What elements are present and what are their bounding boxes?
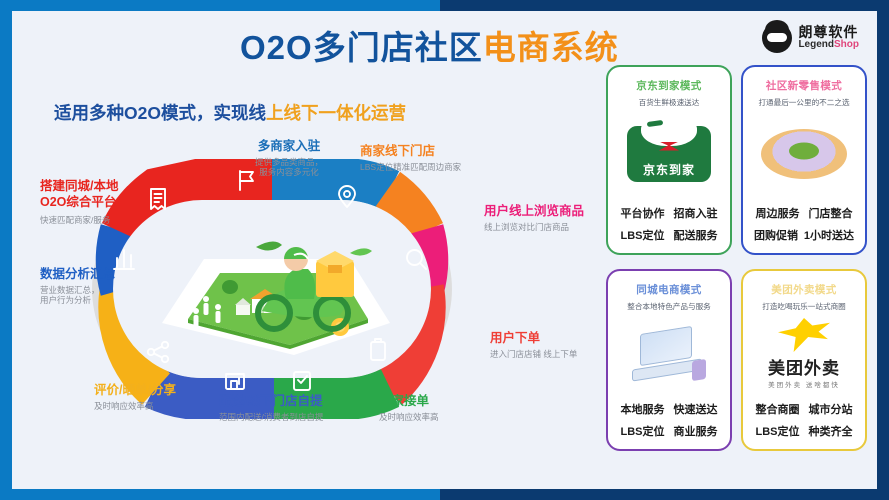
brand-logo-text: 朗尊软件 LegendShop bbox=[798, 25, 859, 50]
cycle-label-review-share: 评价/晒单/分享 及时响应效率高 bbox=[94, 383, 176, 411]
card-tags-row-1: 本地服务 快速送达 bbox=[616, 401, 722, 417]
cycle-label-sub1: 进入门店店铺 线上下单 bbox=[490, 349, 577, 360]
page-title-primary: O2O多门店社区 bbox=[240, 29, 483, 66]
ring-seg-merchant-onboarding[interactable] bbox=[272, 179, 390, 190]
content-canvas: O2O多门店社区电商系统 朗尊软件 LegendShop 适用多种O2O模式，实… bbox=[12, 11, 877, 489]
card-tag: 快速送达 bbox=[674, 401, 718, 417]
cycle-label-sub1: LBS定位精准匹配周边商家 bbox=[360, 162, 461, 173]
meituan-brand-text: 美团外卖 bbox=[768, 354, 840, 379]
card-tag: 1小时送达 bbox=[804, 227, 854, 243]
cycle-label-sub1: 范围内配送/消费者到店自提 bbox=[219, 412, 323, 423]
laptop-screen bbox=[640, 325, 692, 365]
brand-name-cn: 朗尊软件 bbox=[798, 25, 859, 40]
cycle-label-title: 评价/晒单/分享 bbox=[94, 383, 176, 399]
cycle-label-sub1: 营业数据汇总， bbox=[40, 285, 115, 296]
card-community-new-retail[interactable]: 社区新零售模式 打通最后一公里的不二之选 周边服务 门店整合 团购促销 1小时送… bbox=[741, 65, 867, 255]
page-title: O2O多门店社区电商系统 bbox=[240, 21, 619, 69]
card-tag: 招商入驻 bbox=[674, 205, 718, 221]
cycle-label-title: 数据分析汇总 bbox=[40, 267, 115, 283]
card-tag: 种类齐全 bbox=[809, 423, 853, 439]
cycle-label-data-analysis: 数据分析汇总 营业数据汇总， 用户行为分析 bbox=[40, 267, 115, 306]
cycle-label-online-browse: 用户线上浏览商品 线上浏览对比门店商品 bbox=[484, 204, 584, 232]
laptop-art bbox=[608, 312, 730, 395]
concentric-disc-icon bbox=[761, 129, 847, 179]
card-subtitle: 打造吃喝玩乐一站式商圈 bbox=[762, 301, 846, 312]
card-tag: 整合商圈 bbox=[756, 401, 800, 417]
card-title: 美团外卖模式 bbox=[771, 282, 836, 297]
cycle-label-title: 用户线上浏览商品 bbox=[484, 204, 584, 220]
page-subtitle-primary: 适用多种O2O模式，实现线 bbox=[54, 103, 266, 123]
cycle-label-build-platform: 搭建同城/本地 O2O综合平台 快速匹配商家/服务 bbox=[40, 179, 118, 226]
card-tag: 周边服务 bbox=[756, 205, 800, 221]
panda-mascot-icon bbox=[762, 23, 792, 53]
jd-badge: 京东到家 bbox=[627, 126, 711, 182]
card-local-ecommerce[interactable]: 同城电商模式 整合本地特色产品与服务 本地服务 快速送达 LBS定位 商业服务 bbox=[606, 269, 732, 451]
cycle-label-place-order: 用户下单 进入门店店铺 线上下单 bbox=[490, 331, 577, 359]
community-disc-art bbox=[743, 108, 865, 199]
cycle-label-sub1: 提供多品类商品， bbox=[234, 157, 344, 168]
cycle-label-title-line1: 搭建同城/本地 bbox=[40, 179, 118, 195]
card-tag: 配送服务 bbox=[674, 227, 718, 243]
card-tag: 商业服务 bbox=[674, 423, 718, 439]
cycle-label-title: 商家线下门店 bbox=[360, 144, 461, 160]
card-footer: 平台协作 招商入驻 LBS定位 配送服务 bbox=[608, 199, 730, 253]
meituan-logo-art: 美团外卖 美团外卖 送啥都快 bbox=[743, 312, 865, 395]
card-tags-row-2: 团购促销 1小时送达 bbox=[751, 227, 857, 243]
brand-name-en-legend: Legend bbox=[798, 39, 834, 50]
card-subtitle: 打通最后一公里的不二之选 bbox=[758, 97, 849, 108]
card-tag: LBS定位 bbox=[621, 423, 665, 439]
card-title: 京东到家模式 bbox=[636, 78, 701, 93]
phone-icon bbox=[692, 358, 706, 380]
cycle-label-title: 用户下单 bbox=[490, 331, 577, 347]
card-footer: 周边服务 门店整合 团购促销 1小时送达 bbox=[743, 199, 865, 253]
card-subtitle: 百货生鲜极速送达 bbox=[639, 97, 700, 108]
card-tag: 本地服务 bbox=[621, 401, 665, 417]
card-footer: 整合商圈 城市分站 LBS定位 种类齐全 bbox=[743, 395, 865, 449]
meituan-kangaroo-icon bbox=[778, 318, 830, 352]
cycle-label-title: 多商家入驻 bbox=[234, 139, 344, 155]
card-meituan-waimai[interactable]: 美团外卖模式 打造吃喝玩乐一站式商圈 美团外卖 美团外卖 送啥都快 整合商圈 城… bbox=[741, 269, 867, 451]
brand-logo: 朗尊软件 LegendShop bbox=[762, 23, 859, 53]
jd-brand-text: 京东到家 bbox=[643, 161, 695, 178]
cycle-label-sub1: 快速匹配商家/服务 bbox=[40, 215, 118, 226]
card-tag: 平台协作 bbox=[621, 205, 665, 221]
card-tags-row-1: 周边服务 门店整合 bbox=[751, 205, 857, 221]
meituan-logo-stack: 美团外卖 美团外卖 送啥都快 bbox=[768, 318, 840, 389]
card-tag: 城市分站 bbox=[809, 401, 853, 417]
card-title: 社区新零售模式 bbox=[766, 78, 842, 93]
cycle-label-delivery-pickup: 配送/线下门店自提 范围内配送/消费者到店自提 bbox=[219, 394, 323, 422]
cycle-label-title: 配送/线下门店自提 bbox=[219, 394, 323, 410]
meituan-brand-slogan: 美团外卖 送啥都快 bbox=[768, 379, 840, 389]
infographic-page: O2O多门店社区电商系统 朗尊软件 LegendShop 适用多种O2O模式，实… bbox=[0, 0, 889, 500]
jd-dog-icon bbox=[641, 112, 697, 146]
card-title: 同城电商模式 bbox=[636, 282, 701, 297]
brand-name-en: LegendShop bbox=[798, 40, 859, 51]
card-tag: LBS定位 bbox=[621, 227, 665, 243]
card-tag: 团购促销 bbox=[754, 227, 798, 243]
title-band: O2O多门店社区电商系统 朗尊软件 LegendShop bbox=[12, 11, 877, 69]
card-footer: 本地服务 快速送达 LBS定位 商业服务 bbox=[608, 395, 730, 449]
cycle-label-title-line2: O2O综合平台 bbox=[40, 195, 118, 211]
cycle-label-merchant-onboarding: 多商家入驻 提供多品类商品， 服务内容多元化 bbox=[234, 139, 344, 178]
card-tags-row-2: LBS定位 种类齐全 bbox=[751, 423, 857, 439]
brand-name-en-shop: Shop bbox=[834, 39, 859, 50]
page-subtitle: 适用多种O2O模式，实现线上线下一体化运营 bbox=[54, 100, 406, 125]
card-tags-row-1: 平台协作 招商入驻 bbox=[616, 205, 722, 221]
card-tag: 门店整合 bbox=[809, 205, 853, 221]
card-tags-row-2: LBS定位 商业服务 bbox=[616, 423, 722, 439]
page-title-accent: 电商系统 bbox=[483, 29, 619, 66]
jd-logo-art: 京东到家 bbox=[608, 108, 730, 199]
page-subtitle-accent: 上线下一体化运营 bbox=[266, 103, 406, 123]
cycle-label-offline-store: 商家线下门店 LBS定位精准匹配周边商家 bbox=[360, 144, 461, 172]
cycle-label-sub2: 用户行为分析 bbox=[40, 295, 115, 306]
card-jd-daojia[interactable]: 京东到家模式 百货生鲜极速送达 京东到家 平台协作 招商入驻 LBS定位 配送服… bbox=[606, 65, 732, 255]
delivery-rider-map-illustration bbox=[144, 215, 400, 365]
cycle-label-title: 商家接单 bbox=[379, 394, 439, 410]
cycle-ring-diagram bbox=[72, 159, 472, 419]
cycle-label-sub1: 及时响应效率高 bbox=[379, 412, 439, 423]
card-tag: LBS定位 bbox=[756, 423, 800, 439]
cycle-label-sub2: 服务内容多元化 bbox=[234, 167, 344, 178]
laptop-icon bbox=[630, 328, 708, 380]
cycle-label-sub1: 及时响应效率高 bbox=[94, 401, 176, 412]
cycle-label-merchant-accept: 商家接单 及时响应效率高 bbox=[379, 394, 439, 422]
card-tags-row-1: 整合商圈 城市分站 bbox=[751, 401, 857, 417]
cycle-label-sub1: 线上浏览对比门店商品 bbox=[484, 222, 584, 233]
card-tags-row-2: LBS定位 配送服务 bbox=[616, 227, 722, 243]
card-subtitle: 整合本地特色产品与服务 bbox=[627, 301, 711, 312]
